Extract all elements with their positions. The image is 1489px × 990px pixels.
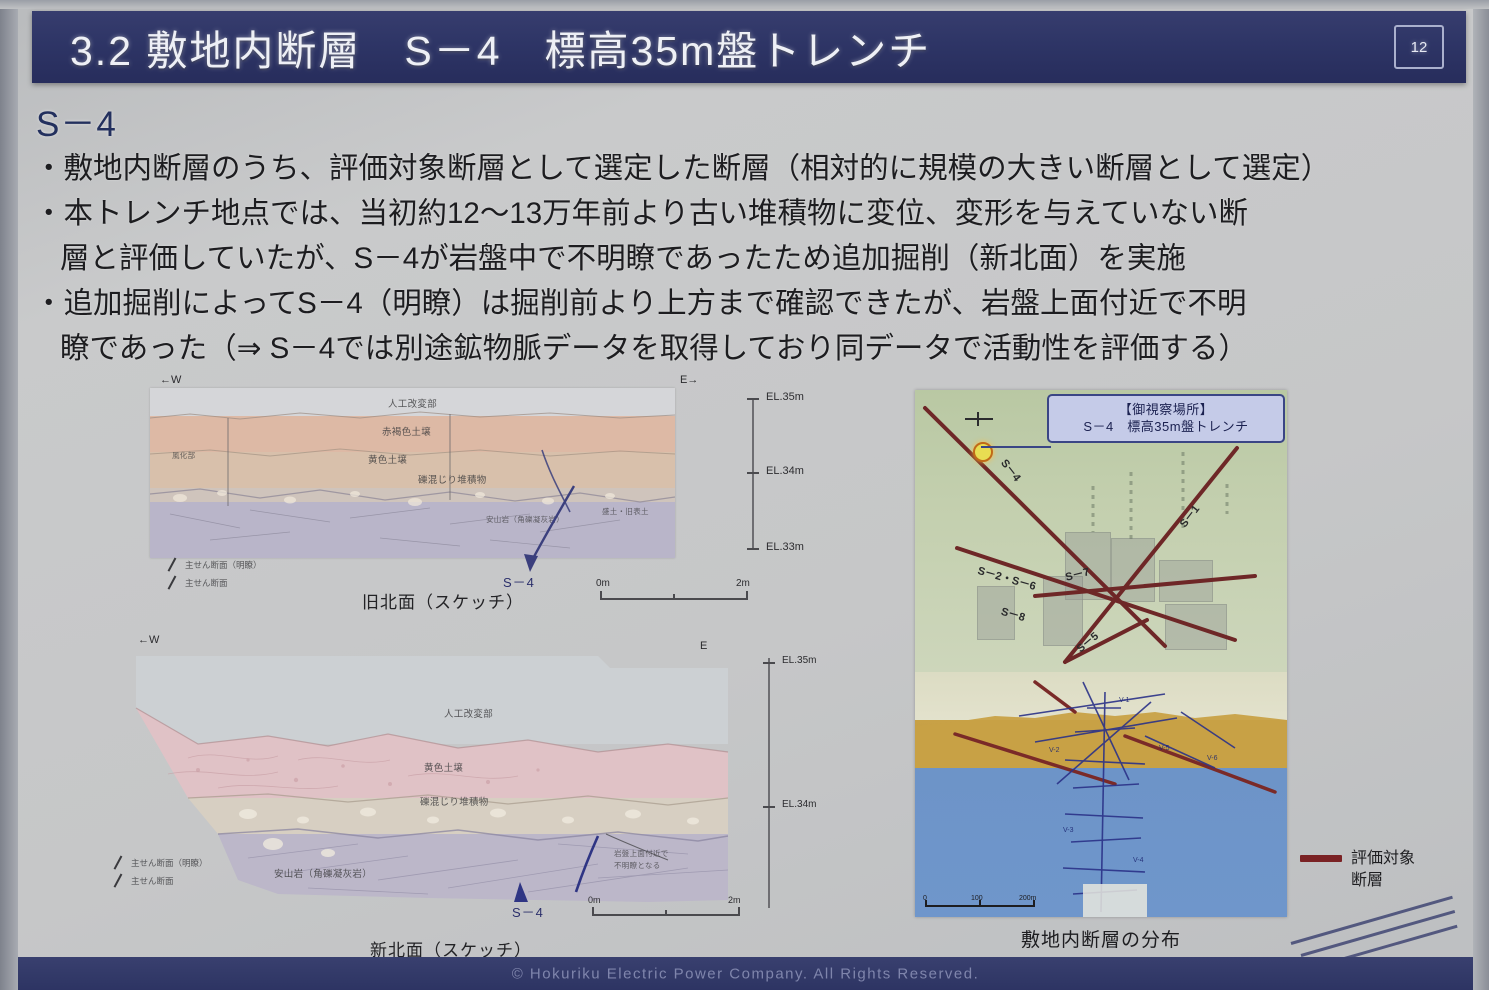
upper-layer-label: 黄色土壌 xyxy=(368,452,407,466)
lower-layer-label: 人工改変部 xyxy=(444,706,493,720)
page-title: 3.2 敷地内断層 S－4 標高35m盤トレンチ xyxy=(70,17,931,77)
bullet-line: 瞭であった（⇒ S－4では別途鉱物脈データを取得しており同データで活動性を評価す… xyxy=(34,326,1454,371)
legend-row: 主せん断面（明瞭） xyxy=(112,856,208,869)
slide-footer: © Hokuriku Electric Power Company. All R… xyxy=(18,957,1473,990)
bullet-line: ・追加掘削によってS－4（明瞭）は掘削前より上方まで確認できたが、岩盤上面付近で… xyxy=(34,281,1454,326)
callout-line-1: 【御視察場所】 xyxy=(1055,401,1277,418)
legend-label: 主せん断面 xyxy=(185,577,228,589)
section-overlay: V-2V-5 V-1V-3 V-4V-6 xyxy=(915,672,1287,917)
copyright-text: © Hokuriku Electric Power Company. All R… xyxy=(512,965,980,982)
upper-sketch-caption: 旧北面（スケッチ） xyxy=(362,588,524,613)
shear-plane-clear-icon xyxy=(112,856,125,869)
lower-sketch-legend: 主せん断面（明瞭） 主せん断面 xyxy=(112,856,208,892)
lower-note-label: 岩盤上面付近で xyxy=(614,848,669,859)
legend-label: 主せん断面（明瞭） xyxy=(185,559,262,571)
svg-text:V-4: V-4 xyxy=(1133,857,1144,864)
upper-layer-label: 赤褐色土壌 xyxy=(382,424,431,438)
upper-elevation-label: EL.33m xyxy=(766,541,804,553)
bullet-line: ・敷地内断層のうち、評価対象断層として選定した断層（相対的に規模の大きい断層とし… xyxy=(34,146,1454,191)
upper-elevation-label: EL.35m xyxy=(766,391,804,403)
upper-direction-east: E→ xyxy=(680,374,698,386)
trench-location-marker xyxy=(973,442,993,462)
bullet-line: 層と評価していたが、S－4が岩盤中で不明瞭であったため追加掘削（新北面）を実施 xyxy=(34,236,1454,281)
presentation-slide: 3.2 敷地内断層 S－4 標高35m盤トレンチ 12 S－4 ・敷地内断層のう… xyxy=(0,0,1489,990)
upper-scale-label-right: 2m xyxy=(736,578,750,589)
section-label: S－4 xyxy=(36,96,117,147)
site-fault-map: 【御視察場所】 S－4 標高35m盤トレンチ S－4 S－1 S－2・S－6 S… xyxy=(915,390,1287,917)
upper-sketch-frame: 人工改変部 赤褐色土壌 黄色土壌 礫混じり堆積物 安山岩（角礫凝灰岩） 盛土・旧… xyxy=(150,388,675,558)
lower-layer-label: 黄色土壌 xyxy=(424,760,463,774)
lower-scale-label-left: 0m xyxy=(588,895,601,905)
lower-layer-label: 礫混じり堆積物 xyxy=(420,794,489,808)
bullet-list: ・敷地内断層のうち、評価対象断層として選定した断層（相対的に規模の大きい断層とし… xyxy=(34,146,1454,371)
map-plan-view: 【御視察場所】 S－4 標高35m盤トレンチ S－4 S－1 S－2・S－6 S… xyxy=(915,390,1287,672)
lower-scale-bar: 0m 2m xyxy=(592,894,740,916)
shear-plane-icon xyxy=(112,874,125,887)
svg-text:V-3: V-3 xyxy=(1063,827,1074,834)
upper-fault-arrow xyxy=(496,480,586,580)
map-legend-text: 評価対象 断層 xyxy=(1351,848,1415,892)
fault-line-swatch xyxy=(1300,855,1342,862)
lower-sketch-frame: 人工改変部 黄色土壌 礫混じり堆積物 安山岩（角礫凝灰岩） 岩盤上面付近で 不明… xyxy=(128,648,738,910)
upper-trench-sketch: 人工改変部 赤褐色土壌 黄色土壌 礫混じり堆積物 安山岩（角礫凝灰岩） 盛土・旧… xyxy=(150,388,675,558)
north-arrow-icon xyxy=(957,412,993,426)
legend-label: 主せん断面（明瞭） xyxy=(131,857,208,869)
section-scale-bar: 0 100 200m xyxy=(925,905,1035,907)
bezel-top xyxy=(0,0,1489,9)
svg-text:V-5: V-5 xyxy=(1159,745,1170,752)
map-legend-line-1: 評価対象 xyxy=(1351,848,1415,870)
upper-layer-label: 礫混じり堆積物 xyxy=(418,472,487,486)
lower-elevation-label: EL.34m xyxy=(782,799,816,810)
lower-note-label: 不明瞭となる xyxy=(614,860,661,871)
upper-layer-label: 人工改変部 xyxy=(388,396,437,410)
legend-row: 主せん断面（明瞭） xyxy=(166,558,262,571)
map-legend: 評価対象 断層 xyxy=(1300,848,1415,892)
callout-leader-line xyxy=(981,446,1051,448)
slide-title-bar: 3.2 敷地内断層 S－4 標高35m盤トレンチ 12 xyxy=(32,11,1466,83)
svg-text:V-2: V-2 xyxy=(1049,747,1060,754)
bezel-right xyxy=(1473,0,1489,990)
lower-scale-label-right: 2m xyxy=(728,895,741,905)
upper-layer-label: 風化部 xyxy=(172,450,195,461)
lower-fault-tag: S－4 xyxy=(512,902,544,921)
upper-sketch-legend: 主せん断面（明瞭） 主せん断面 xyxy=(166,558,262,594)
svg-text:V-1: V-1 xyxy=(1119,697,1130,704)
upper-direction-west: ←W xyxy=(160,374,181,386)
legend-label: 主せん断面 xyxy=(131,875,174,887)
bullet-line: ・本トレンチ地点では、当初約12〜13万年前より古い堆積物に変位、変形を与えてい… xyxy=(34,191,1454,236)
legend-row: 主せん断面 xyxy=(112,874,208,887)
upper-sketch-strata-lines xyxy=(150,388,675,558)
map-caption: 敷地内断層の分布 xyxy=(915,925,1287,952)
viewing-location-callout: 【御視察場所】 S－4 標高35m盤トレンチ xyxy=(1047,394,1285,443)
lower-elevation-label: EL.35m xyxy=(782,655,816,666)
svg-text:V-6: V-6 xyxy=(1207,755,1218,762)
map-legend-line-2: 断層 xyxy=(1351,870,1415,892)
upper-elevation-label: EL.34m xyxy=(766,465,804,477)
upper-scale-bar: 0m 2m xyxy=(600,578,748,600)
lower-layer-label: 安山岩（角礫凝灰岩） xyxy=(274,866,372,880)
bezel-left xyxy=(0,0,18,990)
legend-row: 主せん断面 xyxy=(166,576,262,589)
shear-plane-clear-icon xyxy=(166,558,179,571)
upper-layer-label: 盛土・旧表土 xyxy=(602,506,649,517)
shear-plane-icon xyxy=(166,576,179,589)
lower-trench-sketch: 人工改変部 黄色土壌 礫混じり堆積物 安山岩（角礫凝灰岩） 岩盤上面付近で 不明… xyxy=(128,648,738,910)
upper-scale-label-left: 0m xyxy=(596,578,610,589)
page-number-badge: 12 xyxy=(1394,25,1444,69)
map-cross-section: V-2V-5 V-1V-3 V-4V-6 0 100 200m xyxy=(915,672,1287,917)
lower-direction-west: ←W xyxy=(138,634,159,646)
callout-line-2: S－4 標高35m盤トレンチ xyxy=(1055,418,1277,435)
